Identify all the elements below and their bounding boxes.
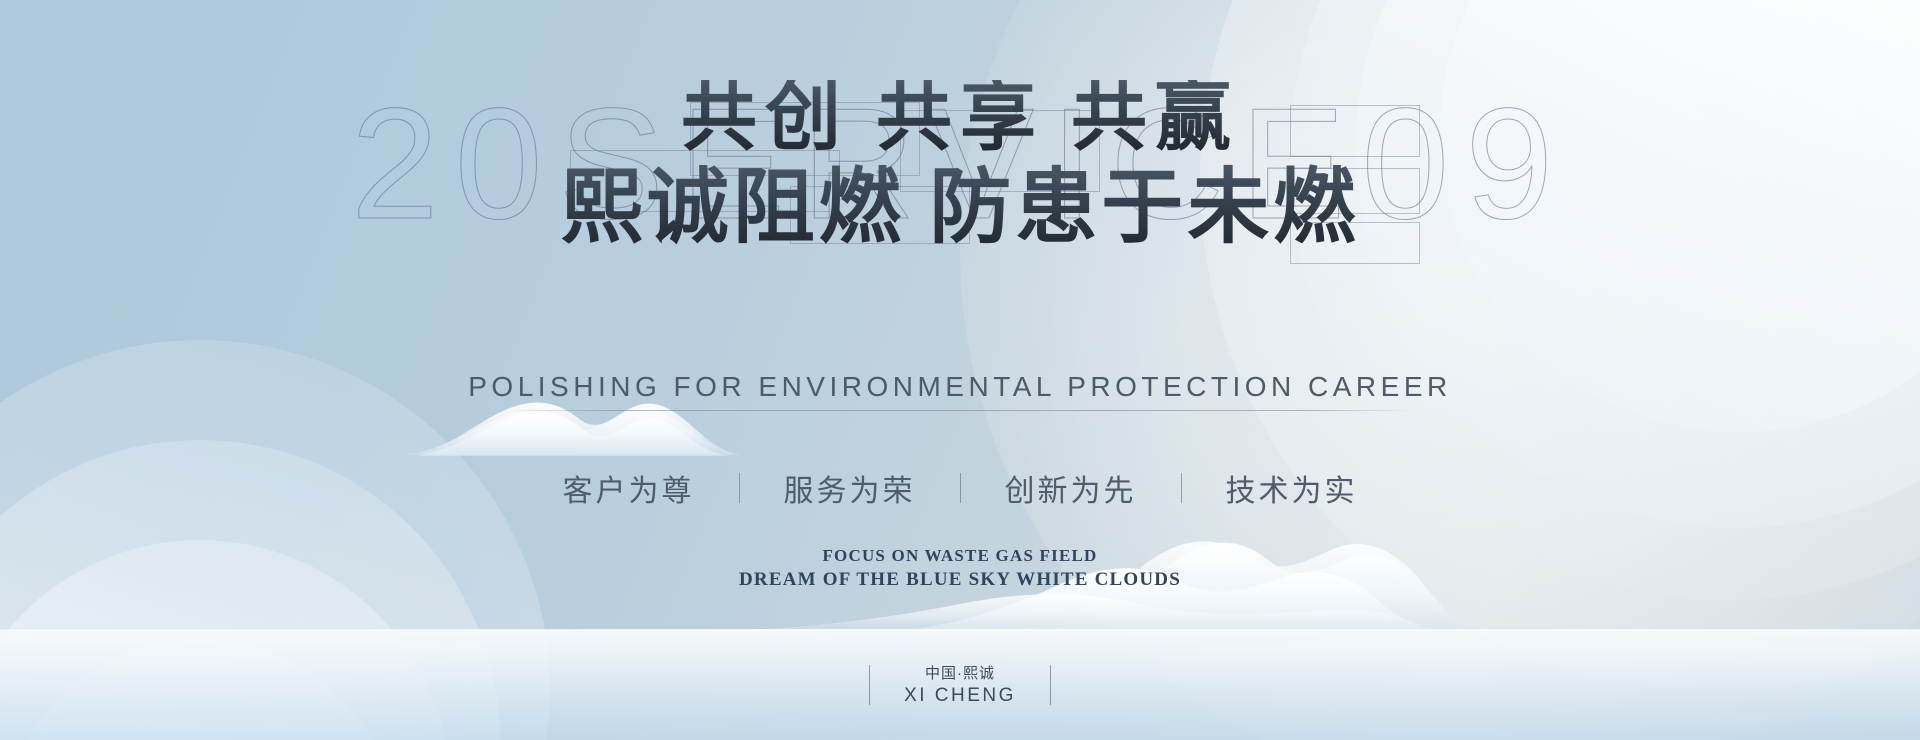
value-separator-2 [960, 473, 961, 503]
value-item-1: 客户为尊 [563, 466, 695, 510]
english-subtitle: POLISHING FOR ENVIRONMENTAL PROTECTION C… [0, 371, 1920, 403]
value-item-4: 技术为实 [1226, 466, 1358, 510]
values-row: 客户为尊 服务为荣 创新为先 技术为实 [0, 466, 1920, 510]
value-separator-1 [739, 473, 740, 503]
value-item-2: 服务为荣 [784, 466, 916, 510]
logo-name-en: XI CHENG [904, 685, 1016, 707]
headline-block: 共创 共享 共赢 熙诚阻燃 防患于未燃 [0, 80, 1920, 254]
poster-stage: 20SERVICE09 共创 共享 共赢 熙诚阻燃 防患于未燃 POLISHIN… [0, 0, 1920, 740]
subtitle-underline [507, 410, 1413, 411]
tagline-line-2: DREAM OF THE BLUE SKY WHITE CLOUDS [0, 569, 1920, 591]
value-separator-3 [1181, 473, 1182, 503]
logo-text: 中国·熙诚 XI CHENG [904, 662, 1016, 707]
english-tagline: FOCUS ON WASTE GAS FIELD DREAM OF THE BL… [0, 546, 1920, 591]
tagline-line-1: FOCUS ON WASTE GAS FIELD [0, 546, 1920, 566]
headline-line-2: 熙诚阻燃 防患于未燃 [0, 162, 1920, 254]
logo-lockup: 中国·熙诚 XI CHENG [0, 662, 1920, 707]
headline-line-1: 共创 共享 共赢 [0, 80, 1920, 156]
logo-bar-left [869, 665, 870, 705]
floor-edge-line [0, 629, 1920, 631]
logo-bar-right [1050, 665, 1051, 705]
logo-name-cn: 中国·熙诚 [904, 662, 1016, 683]
value-item-3: 创新为先 [1005, 466, 1137, 510]
